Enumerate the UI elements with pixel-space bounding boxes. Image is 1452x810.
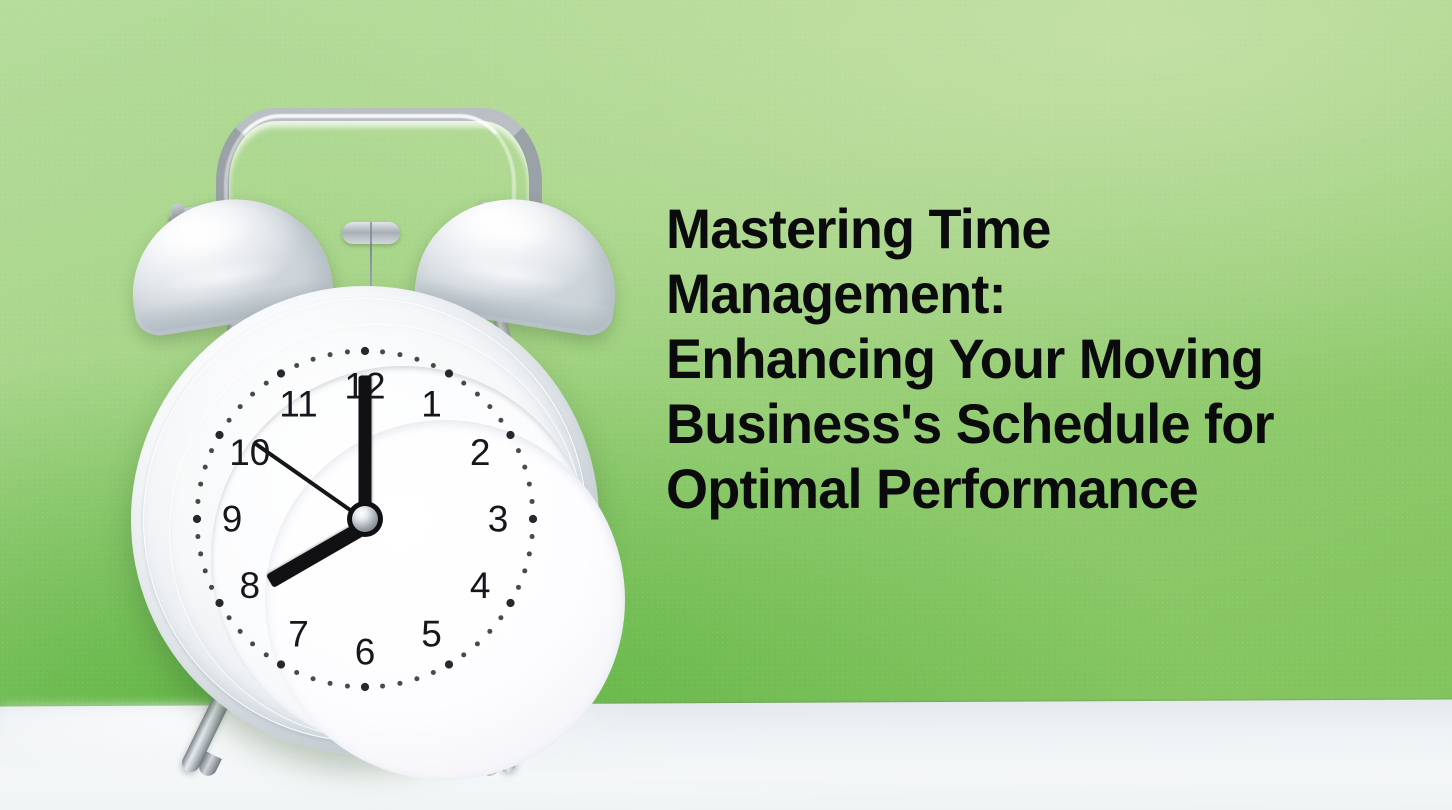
striker-hammer-seam — [370, 222, 372, 244]
center-hub — [352, 506, 378, 532]
clock-numeral-9: 9 — [222, 499, 243, 540]
clock-numeral-3: 3 — [488, 499, 509, 540]
clock-numeral-2: 2 — [470, 432, 491, 473]
page-title: Mastering Time Management: Enhancing You… — [666, 196, 1370, 521]
clock-numeral-1: 1 — [421, 383, 442, 424]
clock-numeral-8: 8 — [240, 565, 261, 606]
clock-numeral-5: 5 — [421, 614, 442, 655]
clock-numeral-4: 4 — [470, 565, 491, 606]
image-canvas: 121234567891011 Mastering Time Managemen… — [0, 0, 1452, 810]
headline-line-1: Mastering Time — [666, 196, 1370, 261]
clock-numeral-7: 7 — [288, 614, 309, 655]
clock-numeral-6: 6 — [355, 632, 376, 673]
headline-line-4: Business's Schedule for — [666, 391, 1370, 456]
headline-line-3: Enhancing Your Moving — [666, 326, 1370, 391]
clock-numeral-11: 11 — [279, 383, 317, 424]
left-bell-highlight — [147, 208, 256, 264]
headline-line-5: Optimal Performance — [666, 456, 1370, 521]
alarm-clock: 121234567891011 — [0, 0, 700, 810]
right-bell-highlight — [448, 201, 557, 257]
headline-line-2: Management: — [666, 261, 1370, 326]
